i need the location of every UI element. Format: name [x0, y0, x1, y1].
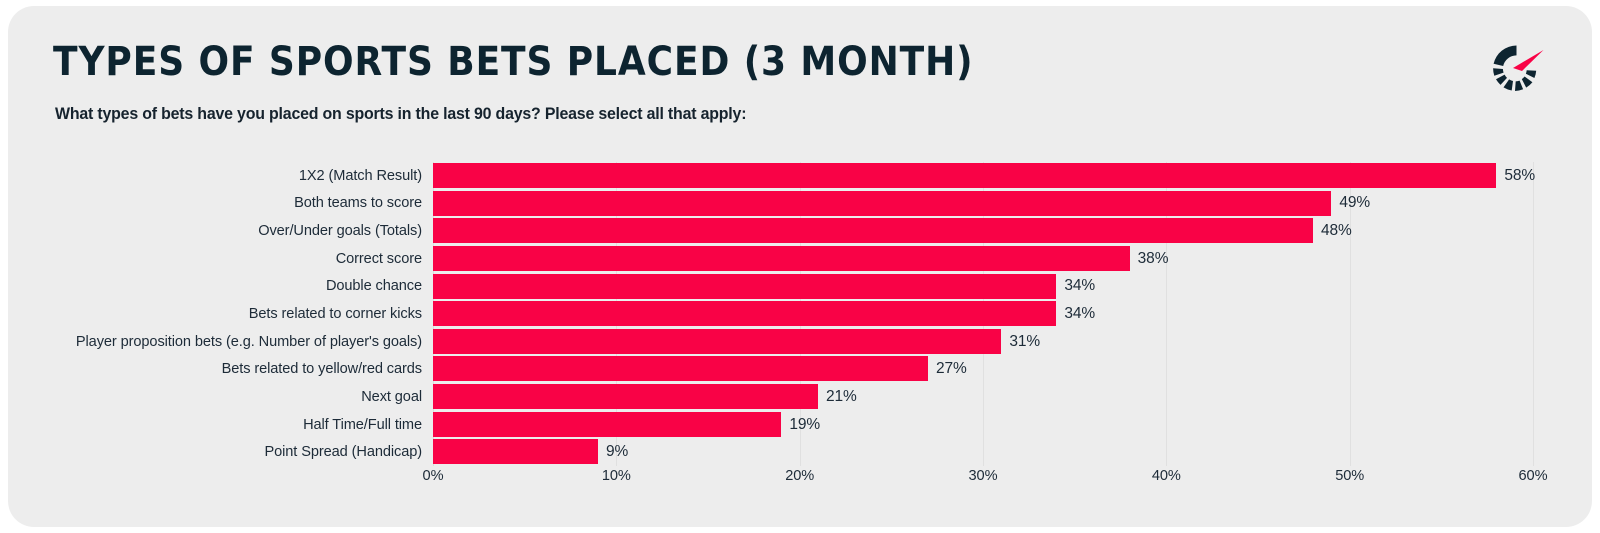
page-title: TYPES OF SPORTS BETS PLACED (3 MONTH)	[53, 40, 974, 84]
x-tick-label: 10%	[602, 468, 631, 484]
x-tick-label: 20%	[785, 468, 814, 484]
bar	[433, 246, 1130, 271]
bar-value-label: 49%	[1339, 194, 1370, 212]
bar-value-label: 31%	[1009, 333, 1040, 351]
bar-row: Correct score38%	[433, 245, 1533, 273]
bar	[433, 301, 1056, 326]
bar-row: Double chance34%	[433, 273, 1533, 301]
bar-value-label: 9%	[606, 443, 628, 461]
bar-value-label: 34%	[1064, 277, 1095, 295]
bar-value-label: 27%	[936, 360, 967, 378]
x-tick-label: 40%	[1152, 468, 1181, 484]
bar	[433, 274, 1056, 299]
x-tick-label: 60%	[1519, 468, 1548, 484]
x-tick-label: 50%	[1335, 468, 1364, 484]
category-label: Point Spread (Handicap)	[264, 444, 422, 460]
bar-value-label: 38%	[1138, 250, 1169, 268]
category-label: Bets related to yellow/red cards	[222, 361, 422, 377]
category-label: Correct score	[336, 251, 422, 267]
bar	[433, 356, 928, 381]
bar	[433, 329, 1001, 354]
bar-row: 1X2 (Match Result)58%	[433, 162, 1533, 190]
bar-value-label: 19%	[789, 416, 820, 434]
category-label: Bets related to corner kicks	[249, 306, 422, 322]
gridline	[1533, 162, 1534, 466]
bar	[433, 384, 818, 409]
chart-header: TYPES OF SPORTS BETS PLACED (3 MONTH) Wh…	[8, 6, 1592, 146]
category-label: Player proposition bets (e.g. Number of …	[76, 334, 422, 350]
x-axis: 0%10%20%30%40%50%60%	[433, 468, 1533, 494]
bar-row: Half Time/Full time19%	[433, 411, 1533, 439]
chart-plot-area: 1X2 (Match Result)58%Both teams to score…	[433, 162, 1533, 466]
x-tick-label: 30%	[969, 468, 998, 484]
bar-row: Bets related to corner kicks34%	[433, 300, 1533, 328]
bar	[433, 218, 1313, 243]
category-label: Over/Under goals (Totals)	[258, 223, 422, 239]
bar-row: Both teams to score49%	[433, 190, 1533, 218]
bar-row: Bets related to yellow/red cards27%	[433, 355, 1533, 383]
category-label: Both teams to score	[294, 195, 422, 211]
bar	[433, 439, 598, 464]
category-label: Double chance	[326, 278, 422, 294]
bar-value-label: 48%	[1321, 222, 1352, 240]
speedometer-logo-icon	[1482, 39, 1544, 97]
category-label: Half Time/Full time	[303, 417, 422, 433]
bar-row: Over/Under goals (Totals)48%	[433, 217, 1533, 245]
bar-value-label: 21%	[826, 388, 857, 406]
bar	[433, 191, 1331, 216]
bar-row: Next goal21%	[433, 383, 1533, 411]
category-label: Next goal	[361, 389, 422, 405]
bar-row: Player proposition bets (e.g. Number of …	[433, 328, 1533, 356]
bar-row: Point Spread (Handicap)9%	[433, 438, 1533, 466]
bar-rows: 1X2 (Match Result)58%Both teams to score…	[433, 162, 1533, 466]
bar-value-label: 58%	[1504, 167, 1535, 185]
bar	[433, 163, 1496, 188]
chart-card: TYPES OF SPORTS BETS PLACED (3 MONTH) Wh…	[8, 6, 1592, 527]
category-label: 1X2 (Match Result)	[299, 168, 422, 184]
bar-value-label: 34%	[1064, 305, 1095, 323]
chart-subtitle: What types of bets have you placed on sp…	[55, 103, 746, 125]
bar	[433, 412, 781, 437]
x-tick-label: 0%	[423, 468, 444, 484]
